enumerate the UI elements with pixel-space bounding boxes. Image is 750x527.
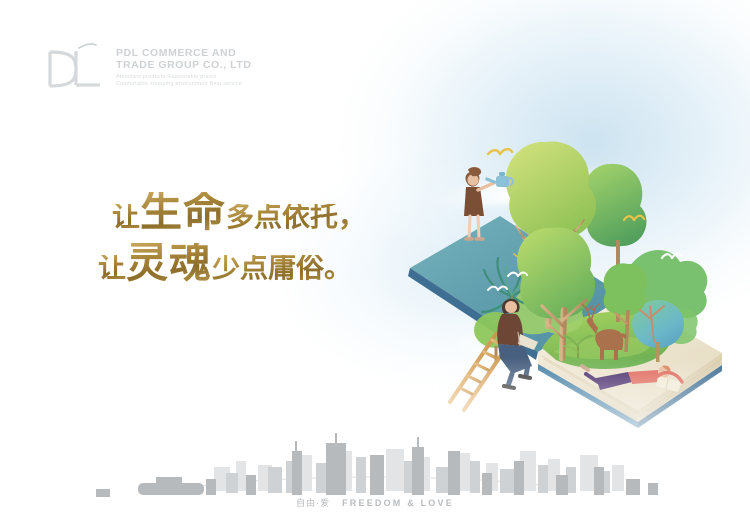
book-forest-illustration xyxy=(392,120,750,420)
footer-tagline-cn: 自由·爱 xyxy=(296,498,330,508)
brand-tagline: Abundant products Reasonable prices Comf… xyxy=(116,74,251,88)
headline-line-2: 让灵魂少点庸俗。 xyxy=(98,243,366,285)
poster-canvas: PDL COMMERCE AND TRADE GROUP CO., LTD Ab… xyxy=(0,0,750,527)
city-skyline-silhouette xyxy=(0,417,750,527)
brand-name: PDL COMMERCE AND TRADE GROUP CO., LTD xyxy=(116,48,251,71)
headline-line1-lead: 让 xyxy=(112,204,140,232)
man-head xyxy=(505,301,517,313)
headline: 让生命多点依托， 让灵魂少点庸俗。 xyxy=(98,192,366,285)
footer-tagline: 自由·爱FREEDOM & LOVE xyxy=(0,496,750,509)
headline-line1-rest: 多点依托， xyxy=(226,204,366,232)
dl-monogram-icon xyxy=(46,42,108,92)
headline-line2-emphasis: 灵魂 xyxy=(126,243,212,285)
headline-line-1: 让生命多点依托， xyxy=(112,192,366,234)
woman-dress xyxy=(464,187,484,216)
headline-line1-emphasis: 生命 xyxy=(140,192,226,234)
headline-line2-lead: 让 xyxy=(98,255,126,283)
skyline-spires xyxy=(296,433,418,451)
footer: 自由·爱FREEDOM & LOVE xyxy=(0,417,750,527)
footer-tagline-en: FREEDOM & LOVE xyxy=(342,498,454,508)
brand-logo-text: PDL COMMERCE AND TRADE GROUP CO., LTD Ab… xyxy=(116,42,251,88)
brand-logo[interactable]: PDL COMMERCE AND TRADE GROUP CO., LTD Ab… xyxy=(46,42,251,92)
bird-yellow-upper xyxy=(488,149,512,154)
headline-line2-rest: 少点庸俗。 xyxy=(212,255,352,283)
lying-person-top xyxy=(628,370,660,384)
